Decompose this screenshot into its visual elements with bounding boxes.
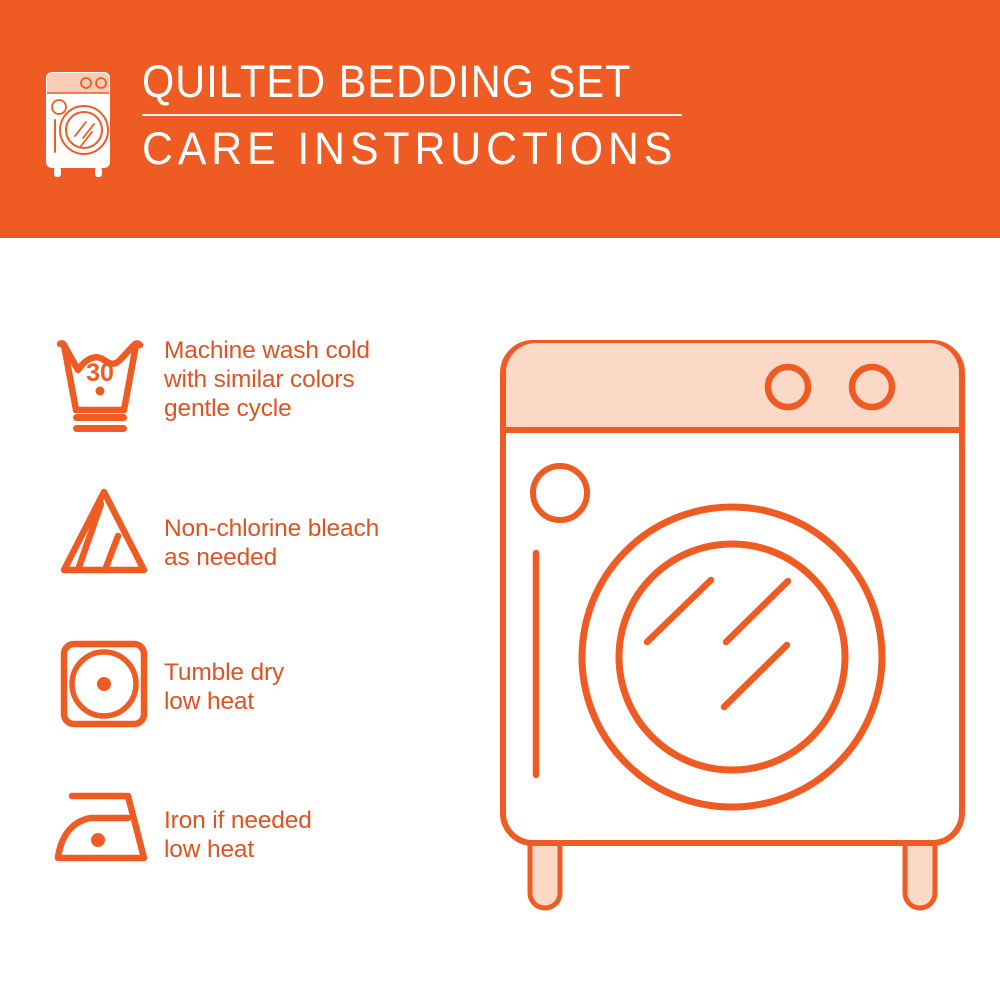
care-instructions-list: 30 Machine wash cold with similar colors… xyxy=(44,328,484,928)
care-symbol-slot: 30 xyxy=(44,328,164,434)
page-title: QUILTED BEDDING SET xyxy=(142,58,660,112)
care-text: Non-chlorine bleach as needed xyxy=(164,478,379,572)
title-divider xyxy=(142,114,682,116)
tumble-dry-low-heat-icon xyxy=(54,634,154,734)
care-text: Tumble dry low heat xyxy=(164,628,284,716)
care-row: 30 Machine wash cold with similar colors… xyxy=(44,328,484,478)
page-subtitle: CARE INSTRUCTIONS xyxy=(142,124,677,174)
care-text: Iron if needed low heat xyxy=(164,778,312,864)
washing-machine-icon xyxy=(38,64,124,182)
page-header: QUILTED BEDDING SET CARE INSTRUCTIONS xyxy=(0,0,1000,238)
care-symbol-slot xyxy=(44,628,164,734)
wash-temperature-label: 30 xyxy=(86,359,114,387)
header-content: QUILTED BEDDING SET CARE INSTRUCTIONS xyxy=(38,58,705,182)
care-row: Tumble dry low heat xyxy=(44,628,484,778)
care-row: Iron if needed low heat xyxy=(44,778,484,928)
machine-svg xyxy=(495,335,970,925)
care-row: Non-chlorine bleach as needed xyxy=(44,478,484,628)
care-symbol-slot xyxy=(44,478,164,580)
non-chlorine-bleach-triangle-icon xyxy=(52,484,156,580)
title-block: QUILTED BEDDING SET CARE INSTRUCTIONS xyxy=(142,58,705,174)
care-symbol-slot xyxy=(44,778,164,870)
iron-low-heat-icon xyxy=(50,784,158,870)
washing-machine-illustration xyxy=(495,335,970,925)
care-text: Machine wash cold with similar colors ge… xyxy=(164,328,370,423)
wash-tub-30-gentle-icon: 30 xyxy=(52,334,156,434)
